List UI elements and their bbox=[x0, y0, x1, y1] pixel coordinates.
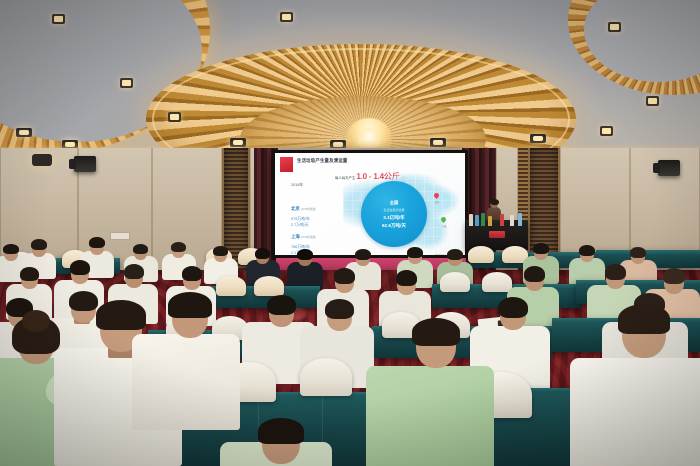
downlight-icon bbox=[16, 128, 32, 137]
china-map: 全国 生活垃圾清运量 3.1亿吨/年 62.6万吨/天 北京 上海 数据来源：国… bbox=[337, 167, 463, 255]
chair bbox=[482, 272, 512, 292]
stat-line: 975万吨/年 bbox=[291, 217, 316, 222]
chair bbox=[216, 276, 246, 296]
attendee-hair bbox=[124, 264, 144, 279]
stat-city-name: 上海 bbox=[291, 234, 300, 240]
downlight-icon bbox=[600, 126, 613, 136]
stat-city-note: (2018年数据) bbox=[301, 236, 316, 239]
map-pin-label: 北京 bbox=[429, 200, 445, 204]
attendee-hair bbox=[355, 249, 371, 260]
downlight-icon bbox=[646, 96, 659, 106]
attendee-hair bbox=[334, 268, 355, 284]
attendee-torso bbox=[366, 366, 494, 466]
attendee-hair bbox=[255, 248, 270, 259]
circle-label: 全国 bbox=[390, 200, 398, 206]
chair bbox=[300, 358, 352, 396]
attendee-torso bbox=[570, 358, 700, 466]
downlight-icon bbox=[52, 14, 65, 24]
presenter-nameplate bbox=[489, 231, 505, 238]
attendee-hair bbox=[579, 245, 595, 256]
bottle-icon bbox=[475, 215, 479, 226]
attendee-hair bbox=[213, 246, 228, 256]
attendee-hair bbox=[407, 247, 423, 258]
attendee-hair bbox=[168, 292, 212, 318]
attendee-hair bbox=[605, 264, 626, 280]
downlight-icon bbox=[280, 12, 293, 22]
attendee-hair bbox=[31, 239, 47, 250]
presenter-hair bbox=[490, 199, 499, 205]
ceiling bbox=[0, 0, 700, 160]
stat-city-note: (2018年数据) bbox=[301, 208, 316, 211]
attendee-hair bbox=[182, 266, 202, 281]
map-pin-shanghai: 上海 bbox=[441, 217, 446, 224]
attendee-hair bbox=[70, 260, 90, 275]
attendee-hair bbox=[618, 304, 670, 334]
wall-light-icon bbox=[32, 154, 52, 166]
attendee-hair bbox=[663, 268, 685, 284]
map-pin-beijing: 北京 bbox=[434, 193, 439, 200]
circle-value-day: 62.6万吨/天 bbox=[382, 223, 406, 229]
downlight-icon bbox=[120, 78, 133, 88]
attendee-hair bbox=[325, 299, 354, 319]
attendee-hair-bun bbox=[22, 310, 50, 332]
slide-title: 生活垃圾产生量及清运量 bbox=[297, 158, 348, 164]
attendee-hair bbox=[447, 249, 463, 260]
slide-year: 2018年 bbox=[291, 183, 303, 188]
attendee-hair bbox=[524, 266, 545, 282]
attendee-hair bbox=[171, 242, 186, 252]
attendee-hair bbox=[630, 247, 646, 258]
wall-outlet-icon bbox=[110, 232, 130, 240]
bottle-icon bbox=[488, 216, 492, 226]
national-stat-circle: 全国 生活垃圾清运量 3.1亿吨/年 62.6万吨/天 bbox=[361, 181, 427, 247]
map-pin-icon bbox=[433, 192, 440, 199]
chair bbox=[254, 276, 284, 296]
circle-value-year: 3.1亿吨/年 bbox=[383, 215, 404, 221]
speaker-icon bbox=[658, 160, 680, 176]
attendee-hair bbox=[267, 295, 296, 315]
conference-hall-photo: 生活垃圾产生量及清运量 每人每天产生 1.0 - 1.4公斤 /日均 2018年… bbox=[0, 0, 700, 466]
attendee-hair bbox=[533, 243, 549, 254]
attendee-hair bbox=[258, 418, 304, 444]
attendee-hair bbox=[3, 244, 19, 254]
circle-caption: 生活垃圾清运量 bbox=[383, 208, 404, 212]
attendee-torso bbox=[132, 334, 240, 430]
chair bbox=[468, 246, 494, 263]
attendee-hair bbox=[412, 318, 460, 346]
bottle-icon bbox=[469, 214, 473, 226]
attendee-hair bbox=[396, 270, 417, 286]
bottle-icon bbox=[510, 215, 514, 226]
stat-block-beijing: 北京(2018年数据) 975万吨/年 2.7万吨/天 bbox=[291, 197, 316, 228]
downlight-icon bbox=[168, 112, 181, 122]
bottle-icon bbox=[518, 213, 522, 226]
attendee-hair bbox=[89, 237, 105, 248]
stat-city-name: 北京 bbox=[291, 206, 300, 212]
attendee-hair bbox=[297, 249, 313, 260]
attendee-hair bbox=[498, 297, 528, 318]
bottle-icon bbox=[481, 213, 485, 226]
downlight-icon bbox=[530, 134, 546, 143]
attendee-hair bbox=[20, 267, 39, 281]
attendee-hair bbox=[69, 291, 98, 311]
downlight-icon bbox=[608, 22, 621, 32]
attendee-hair bbox=[96, 300, 146, 330]
attendee-hair bbox=[133, 244, 148, 254]
bottle-icon bbox=[500, 214, 504, 226]
red-square-logo-icon bbox=[280, 157, 293, 172]
map-pin-label: 上海 bbox=[436, 224, 452, 228]
map-pin-icon bbox=[440, 216, 447, 223]
projection-screen[interactable]: 生活垃圾产生量及清运量 每人每天产生 1.0 - 1.4公斤 /日均 2018年… bbox=[272, 150, 468, 260]
projector-icon bbox=[74, 156, 96, 172]
presentation-slide: 生活垃圾产生量及清运量 每人每天产生 1.0 - 1.4公斤 /日均 2018年… bbox=[275, 153, 465, 255]
chair bbox=[440, 272, 470, 292]
